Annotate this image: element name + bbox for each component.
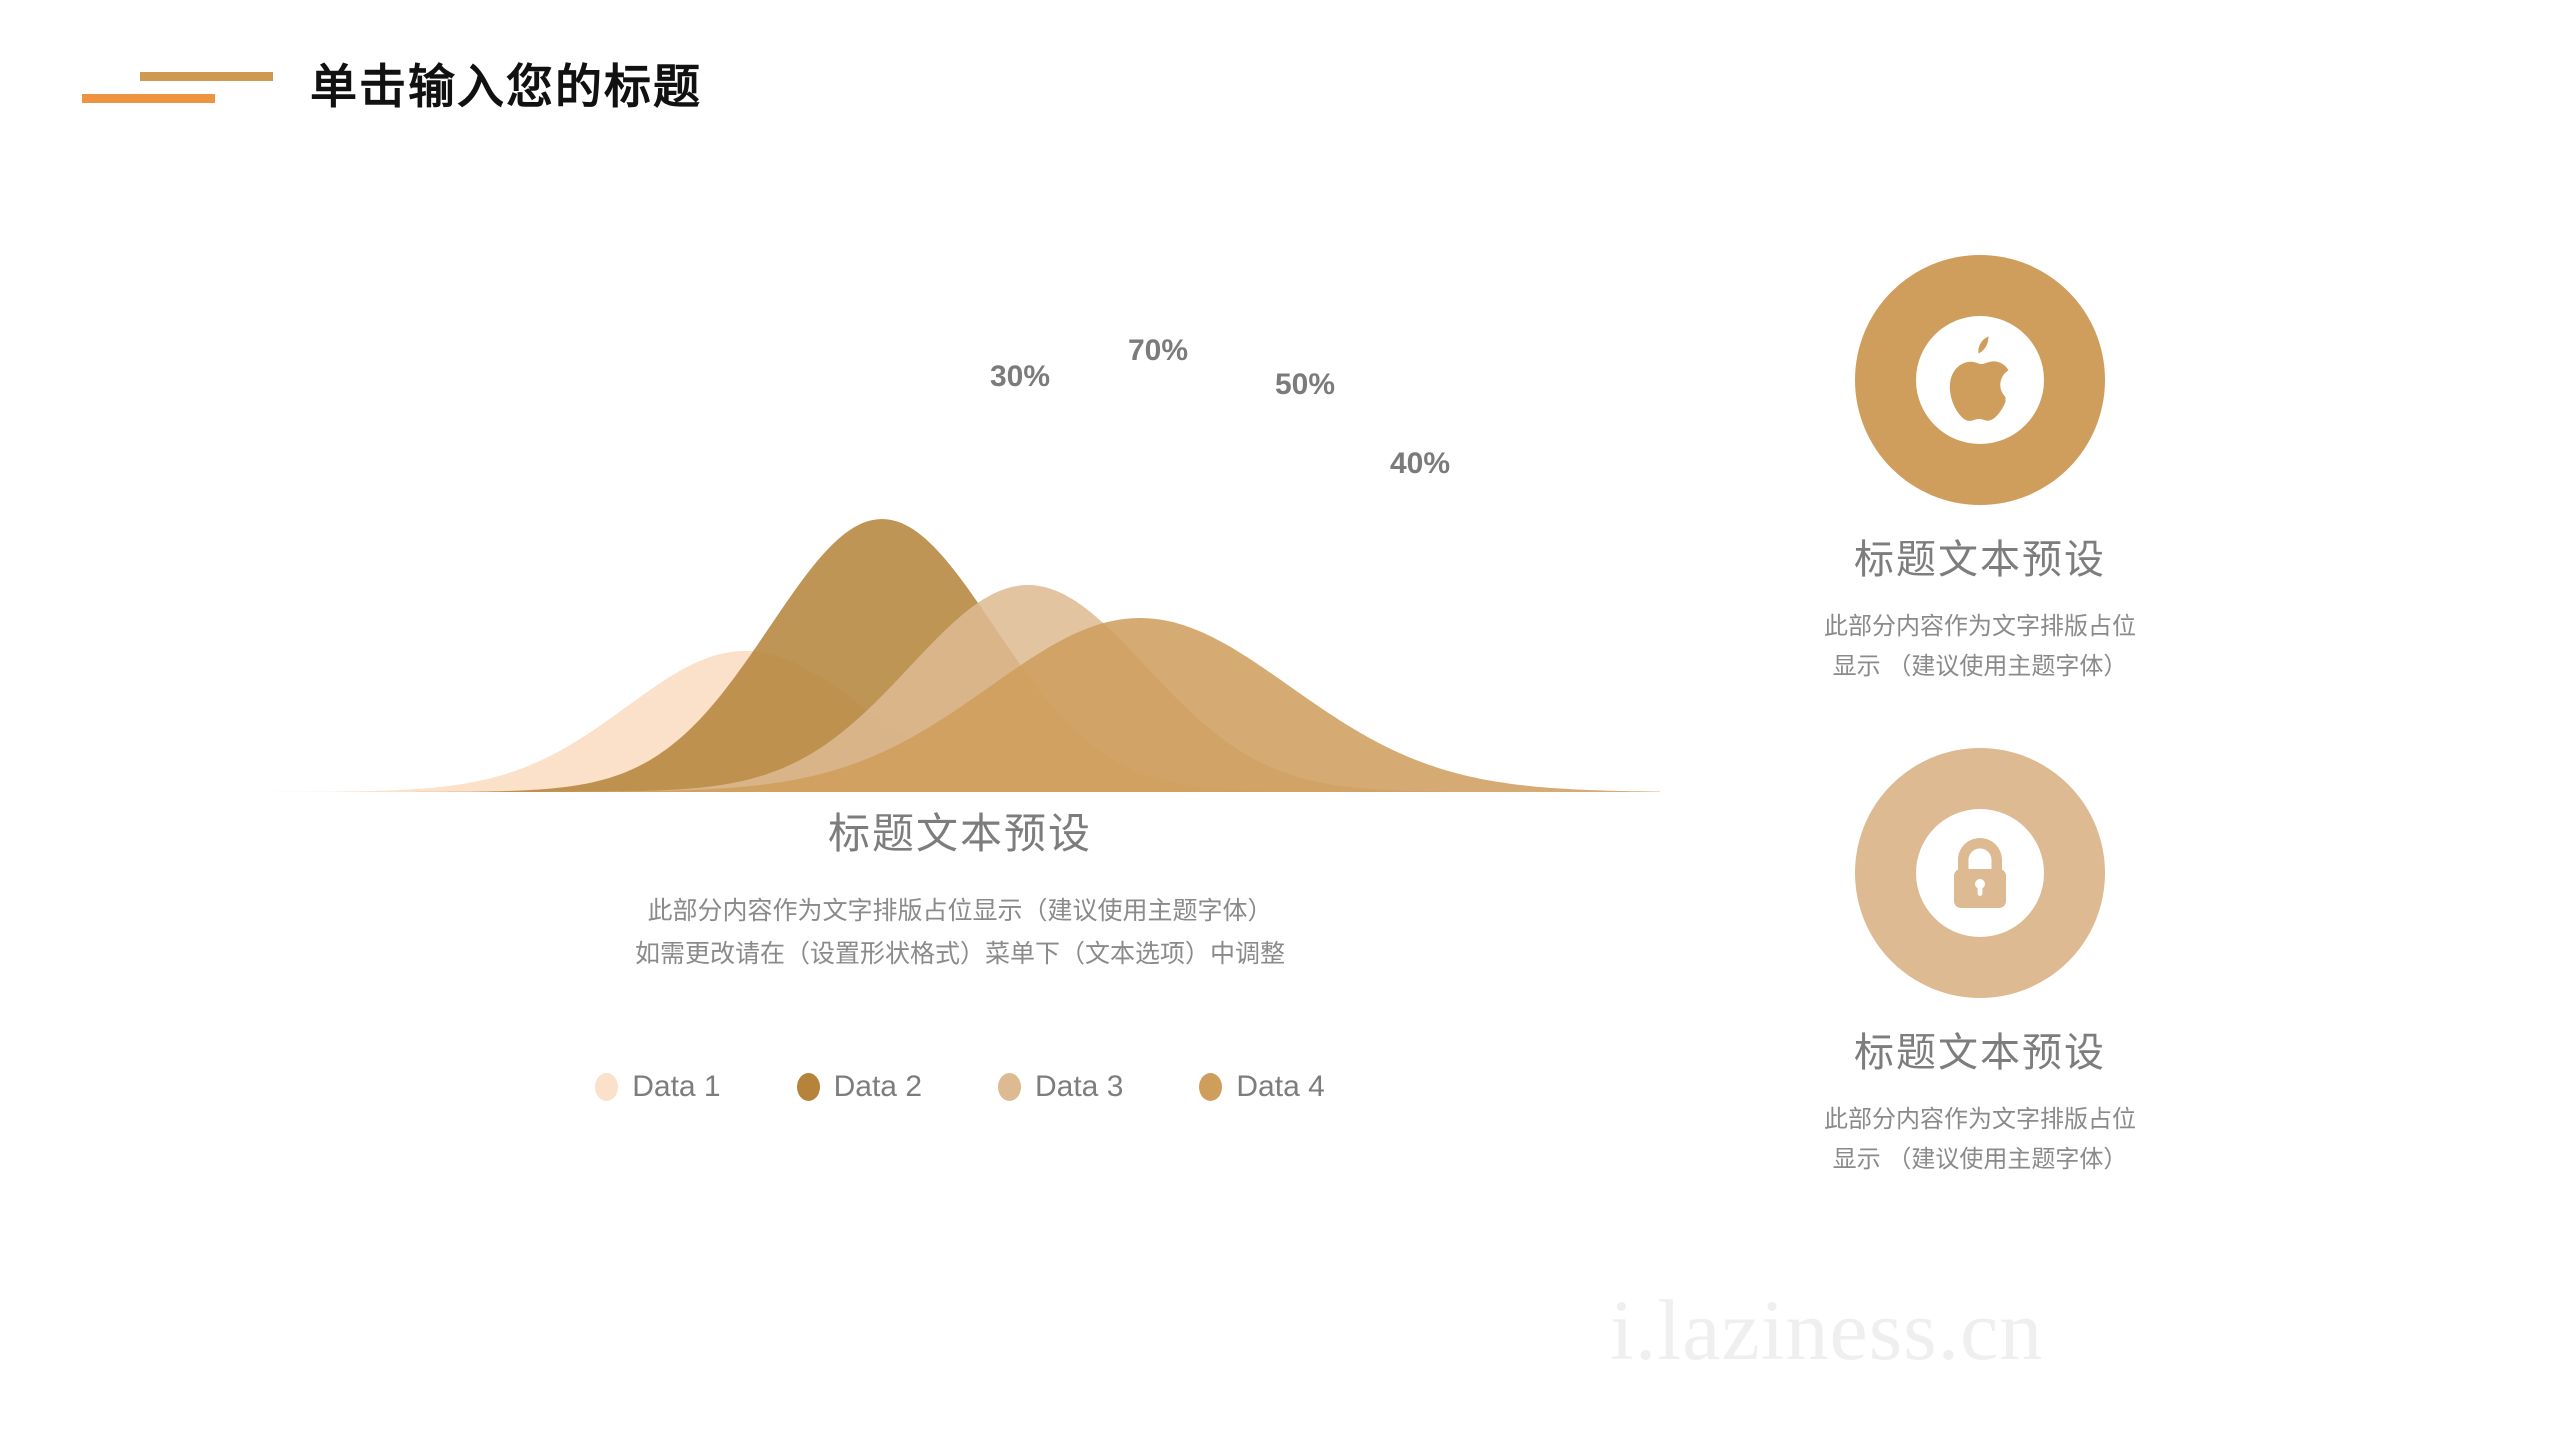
feature-body-line-1: 此部分内容作为文字排版占位 xyxy=(1700,1100,2260,1140)
feature-icon-inner xyxy=(1916,316,2044,444)
legend-label: Data 3 xyxy=(1035,1070,1123,1104)
value-label-data-2: 70% xyxy=(1128,334,1188,368)
chart-caption-line-2: 如需更改请在（设置形状格式）菜单下（文本选项）中调整 xyxy=(290,933,1630,976)
legend-item-data-4[interactable]: Data 4 xyxy=(1199,1070,1324,1104)
legend-swatch-icon xyxy=(998,1073,1021,1101)
feature-body: 此部分内容作为文字排版占位 显示 （建议使用主题字体） xyxy=(1700,607,2260,686)
chart-legend: Data 1 Data 2 Data 3 Data 4 xyxy=(290,1070,1630,1104)
feature-icon-inner xyxy=(1916,809,2044,937)
density-chart: 30% 70% 50% 40% xyxy=(290,330,1630,800)
feature-body-line-2: 显示 （建议使用主题字体） xyxy=(1700,647,2260,687)
watermark: i.laziness.cn xyxy=(1610,1280,2043,1380)
chart-caption-title: 标题文本预设 xyxy=(290,800,1630,861)
legend-item-data-3[interactable]: Data 3 xyxy=(998,1070,1123,1104)
feature-body: 此部分内容作为文字排版占位 显示 （建议使用主题字体） xyxy=(1700,1100,2260,1179)
chart-caption-line-1: 此部分内容作为文字排版占位显示（建议使用主题字体） xyxy=(290,890,1630,933)
feature-card-apple[interactable]: 标题文本预设 此部分内容作为文字排版占位 显示 （建议使用主题字体） xyxy=(1700,255,2260,686)
legend-item-data-2[interactable]: Data 2 xyxy=(797,1070,922,1104)
chart-panel: 30% 70% 50% 40% 标题文本预设 此部分内容作为文字排版占位显示（建… xyxy=(290,330,1630,1230)
feature-title: 标题文本预设 xyxy=(1700,527,2260,585)
legend-label: Data 4 xyxy=(1236,1070,1324,1104)
chart-caption-body: 此部分内容作为文字排版占位显示（建议使用主题字体） 如需更改请在（设置形状格式）… xyxy=(290,890,1630,975)
header-decoration xyxy=(82,62,292,112)
feature-icon-ring xyxy=(1855,748,2105,998)
legend-swatch-icon xyxy=(595,1073,618,1101)
decoration-line-bottom xyxy=(82,94,215,103)
legend-swatch-icon xyxy=(1199,1073,1222,1101)
density-chart-svg xyxy=(290,330,1630,800)
page-header: 单击输入您的标题 xyxy=(0,0,2560,180)
feature-body-line-1: 此部分内容作为文字排版占位 xyxy=(1700,607,2260,647)
lock-icon xyxy=(1946,836,2014,910)
page-title: 单击输入您的标题 xyxy=(310,48,702,117)
value-label-data-3: 50% xyxy=(1275,368,1335,402)
chart-curves xyxy=(225,519,1660,792)
feature-icon-ring xyxy=(1855,255,2105,505)
apple-icon xyxy=(1943,336,2017,424)
legend-label: Data 1 xyxy=(632,1070,720,1104)
legend-swatch-icon xyxy=(797,1073,820,1101)
feature-card-lock[interactable]: 标题文本预设 此部分内容作为文字排版占位 显示 （建议使用主题字体） xyxy=(1700,748,2260,1179)
decoration-line-top xyxy=(140,72,273,81)
feature-title: 标题文本预设 xyxy=(1700,1020,2260,1078)
feature-body-line-2: 显示 （建议使用主题字体） xyxy=(1700,1140,2260,1180)
value-label-data-1: 30% xyxy=(990,360,1050,394)
legend-label: Data 2 xyxy=(834,1070,922,1104)
feature-list: 标题文本预设 此部分内容作为文字排版占位 显示 （建议使用主题字体） 标题文本预… xyxy=(1700,255,2260,1241)
legend-item-data-1[interactable]: Data 1 xyxy=(595,1070,720,1104)
value-label-data-4: 40% xyxy=(1390,447,1450,481)
